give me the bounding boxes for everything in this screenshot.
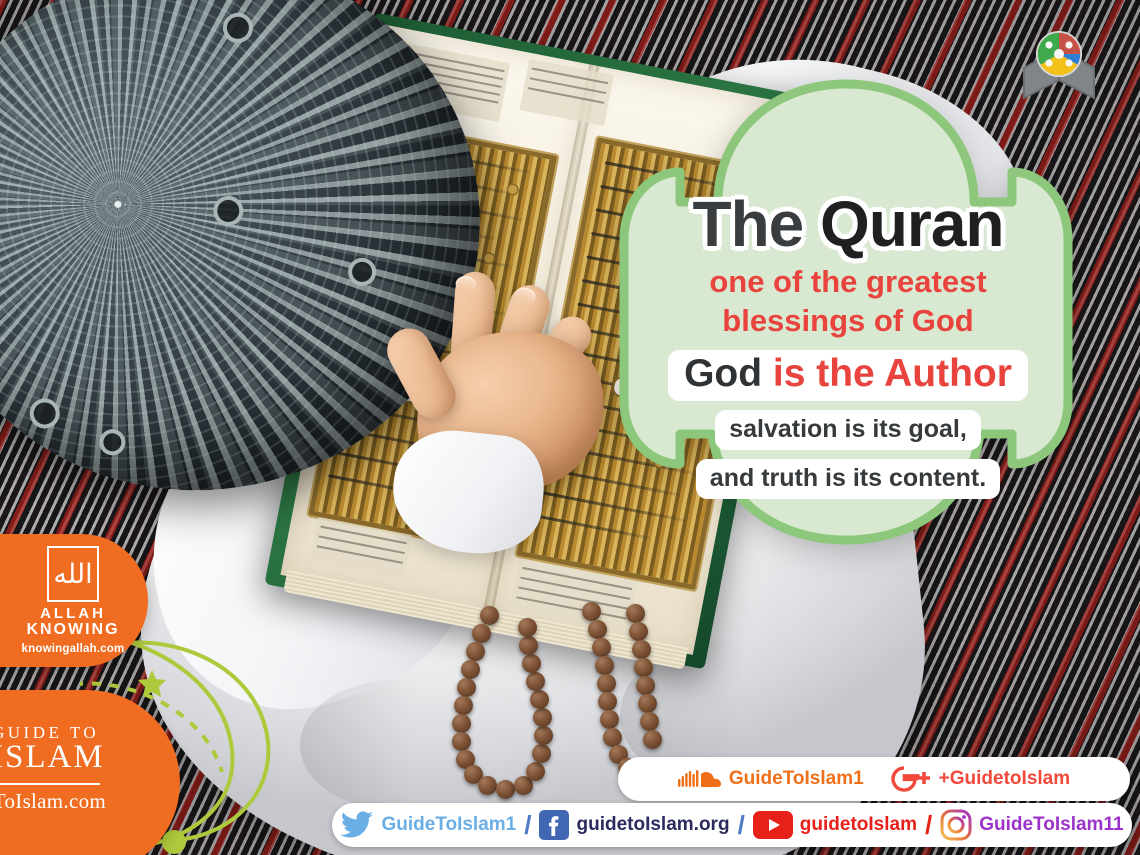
googleplus-icon[interactable] xyxy=(890,765,932,793)
knowing-allah-logo[interactable]: الله ALLAH KNOWING knowingallah.com xyxy=(0,534,148,667)
truth-band: and truth is its content. xyxy=(696,459,1000,499)
facebook-label[interactable]: guidetoIslam.org xyxy=(576,814,729,836)
twitter-icon[interactable] xyxy=(340,811,374,839)
twitter-link[interactable]: GuideToIslam1 xyxy=(340,811,516,839)
allah-calligraphy: الله xyxy=(54,553,92,595)
logo-divider xyxy=(0,783,100,785)
guide-to-islam-url[interactable]: GuideToIslam.com xyxy=(0,789,110,814)
author-band-rest: is the Author xyxy=(773,352,1012,395)
soundcloud-label[interactable]: GuideToIslam1 xyxy=(729,768,864,790)
allah-calligraphy-box: الله xyxy=(47,546,99,602)
knowing-allah-url[interactable]: knowingallah.com xyxy=(8,643,138,655)
googleplus-label[interactable]: +GuidetoIslam xyxy=(939,768,1070,790)
youtube-label[interactable]: guidetoIslam xyxy=(800,814,917,836)
facebook-link[interactable]: guidetoIslam.org xyxy=(539,810,729,840)
soundcloud-icon[interactable] xyxy=(678,767,722,791)
googleplus-link[interactable]: +GuidetoIslam xyxy=(890,765,1070,793)
guide-to-islam-line2: ISLAM xyxy=(0,741,105,774)
headline: The Quran xyxy=(648,192,1048,256)
knowing-allah-line2: KNOWING xyxy=(8,621,138,639)
subtitle-line-2: blessings of God xyxy=(648,301,1048,340)
social-bar-primary: GuideToIslam1 / guidetoIslam.org / guide… xyxy=(332,803,1132,847)
poster-canvas: The Quran one of the greatest blessings … xyxy=(0,0,1140,855)
social-bar-secondary: GuideToIslam1 +GuidetoIslam xyxy=(618,757,1130,801)
fingernail xyxy=(455,276,476,292)
separator-2: / xyxy=(737,810,746,841)
subtitle: one of the greatest blessings of God xyxy=(648,262,1048,340)
soundcloud-link[interactable]: GuideToIslam1 xyxy=(678,767,864,791)
instagram-icon[interactable] xyxy=(940,809,972,841)
quote-text-block: The Quran one of the greatest blessings … xyxy=(648,192,1048,499)
twitter-label[interactable]: GuideToIslam1 xyxy=(381,814,516,836)
facebook-icon[interactable] xyxy=(539,810,569,840)
knowing-allah-line1: ALLAH xyxy=(8,606,138,621)
separator-1: / xyxy=(523,810,532,841)
author-band: God is the Author xyxy=(668,350,1028,401)
instagram-label[interactable]: GuideToIslam11 xyxy=(979,814,1123,836)
separator-3: / xyxy=(924,810,933,841)
youtube-link[interactable]: guidetoIslam xyxy=(753,811,917,839)
youtube-icon[interactable] xyxy=(753,811,793,839)
author-band-god: God xyxy=(684,352,762,395)
instagram-link[interactable]: GuideToIslam11 xyxy=(940,809,1123,841)
subtitle-line-1: one of the greatest xyxy=(648,262,1048,301)
goal-band: salvation is its goal, xyxy=(715,410,981,450)
headline-word-quran: Quran xyxy=(820,188,1003,260)
headline-word-the: The xyxy=(692,188,803,260)
